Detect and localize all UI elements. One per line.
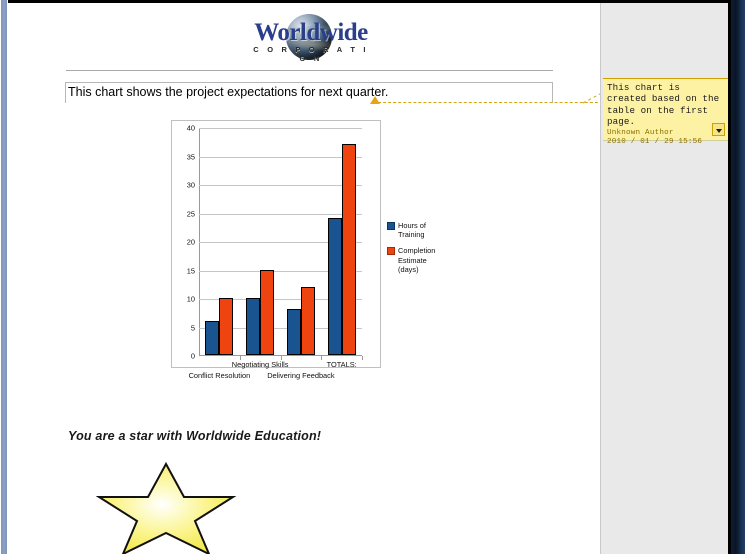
chart-legend-label: Hours of Training [398, 221, 447, 239]
chart-bar [246, 298, 260, 355]
chart-bar [260, 270, 274, 356]
chart-legend: Hours of TrainingCompletion Estimate (da… [387, 221, 447, 281]
chart-y-tick-label: 35 [187, 152, 195, 161]
chart-legend-swatch [387, 247, 395, 255]
window-right-border [731, 0, 745, 554]
chart-bar-group [287, 128, 315, 355]
comment-date: 2010 / 01 / 29 15:56 [607, 138, 724, 148]
chart-y-tick-label: 5 [191, 323, 195, 332]
chart-y-tick-label: 15 [187, 266, 195, 275]
comment-dropdown-button[interactable] [712, 123, 725, 136]
chart-y-tick-label: 20 [187, 238, 195, 247]
chart-y-tick-label: 25 [187, 209, 195, 218]
chart-y-tick-label: 30 [187, 181, 195, 190]
chart-bar [287, 309, 301, 355]
chart-category-label: Conflict Resolution [174, 371, 264, 380]
chart-category-label: TOTALS: [297, 360, 387, 369]
document-viewer: Worldwide C O R P O R A T I O N This cha… [0, 0, 745, 554]
chart-bar [205, 321, 219, 355]
document-page: Worldwide C O R P O R A T I O N This cha… [8, 3, 600, 554]
header-divider [66, 70, 553, 71]
comment-box[interactable]: This chart is created based on the table… [603, 78, 728, 141]
comment-author: Unknown Author [607, 129, 724, 139]
chart-category-label: Negotiating Skills [215, 360, 305, 369]
chart-legend-swatch [387, 222, 395, 230]
tagline-text: You are a star with Worldwide Education! [68, 429, 321, 443]
chart-legend-item: Hours of Training [387, 221, 447, 239]
chart-bar [301, 287, 315, 355]
chart-bar-group [246, 128, 274, 355]
intro-text: This chart shows the project expectation… [68, 85, 388, 99]
star-icon [96, 461, 241, 554]
logo-wordmark: Worldwide [248, 19, 374, 47]
chart-bar [219, 298, 233, 355]
chart-legend-item: Completion Estimate (days) [387, 246, 447, 274]
chart-y-tick-label: 0 [191, 352, 195, 361]
logo-subtitle: C O R P O R A T I O N [248, 45, 374, 63]
chart-bar-group [328, 128, 356, 355]
chart-plot-area: 0510152025303540 [199, 128, 362, 356]
company-logo: Worldwide C O R P O R A T I O N [248, 14, 374, 60]
chart-legend-label: Completion Estimate (days) [398, 246, 447, 274]
chart-bar-group [205, 128, 233, 355]
chart-y-tick-label: 40 [187, 124, 195, 133]
chart-category-label: Delivering Feedback [256, 371, 346, 380]
window-left-border [0, 0, 8, 554]
chart-bar [342, 144, 356, 355]
chevron-down-icon [716, 129, 722, 133]
bar-chart[interactable]: 0510152025303540 Conflict ResolutionNego… [171, 120, 381, 368]
chart-bar [328, 218, 342, 355]
comment-connector-line [378, 102, 608, 104]
comment-text: This chart is created based on the table… [607, 82, 724, 128]
chart-y-tick-label: 10 [187, 295, 195, 304]
